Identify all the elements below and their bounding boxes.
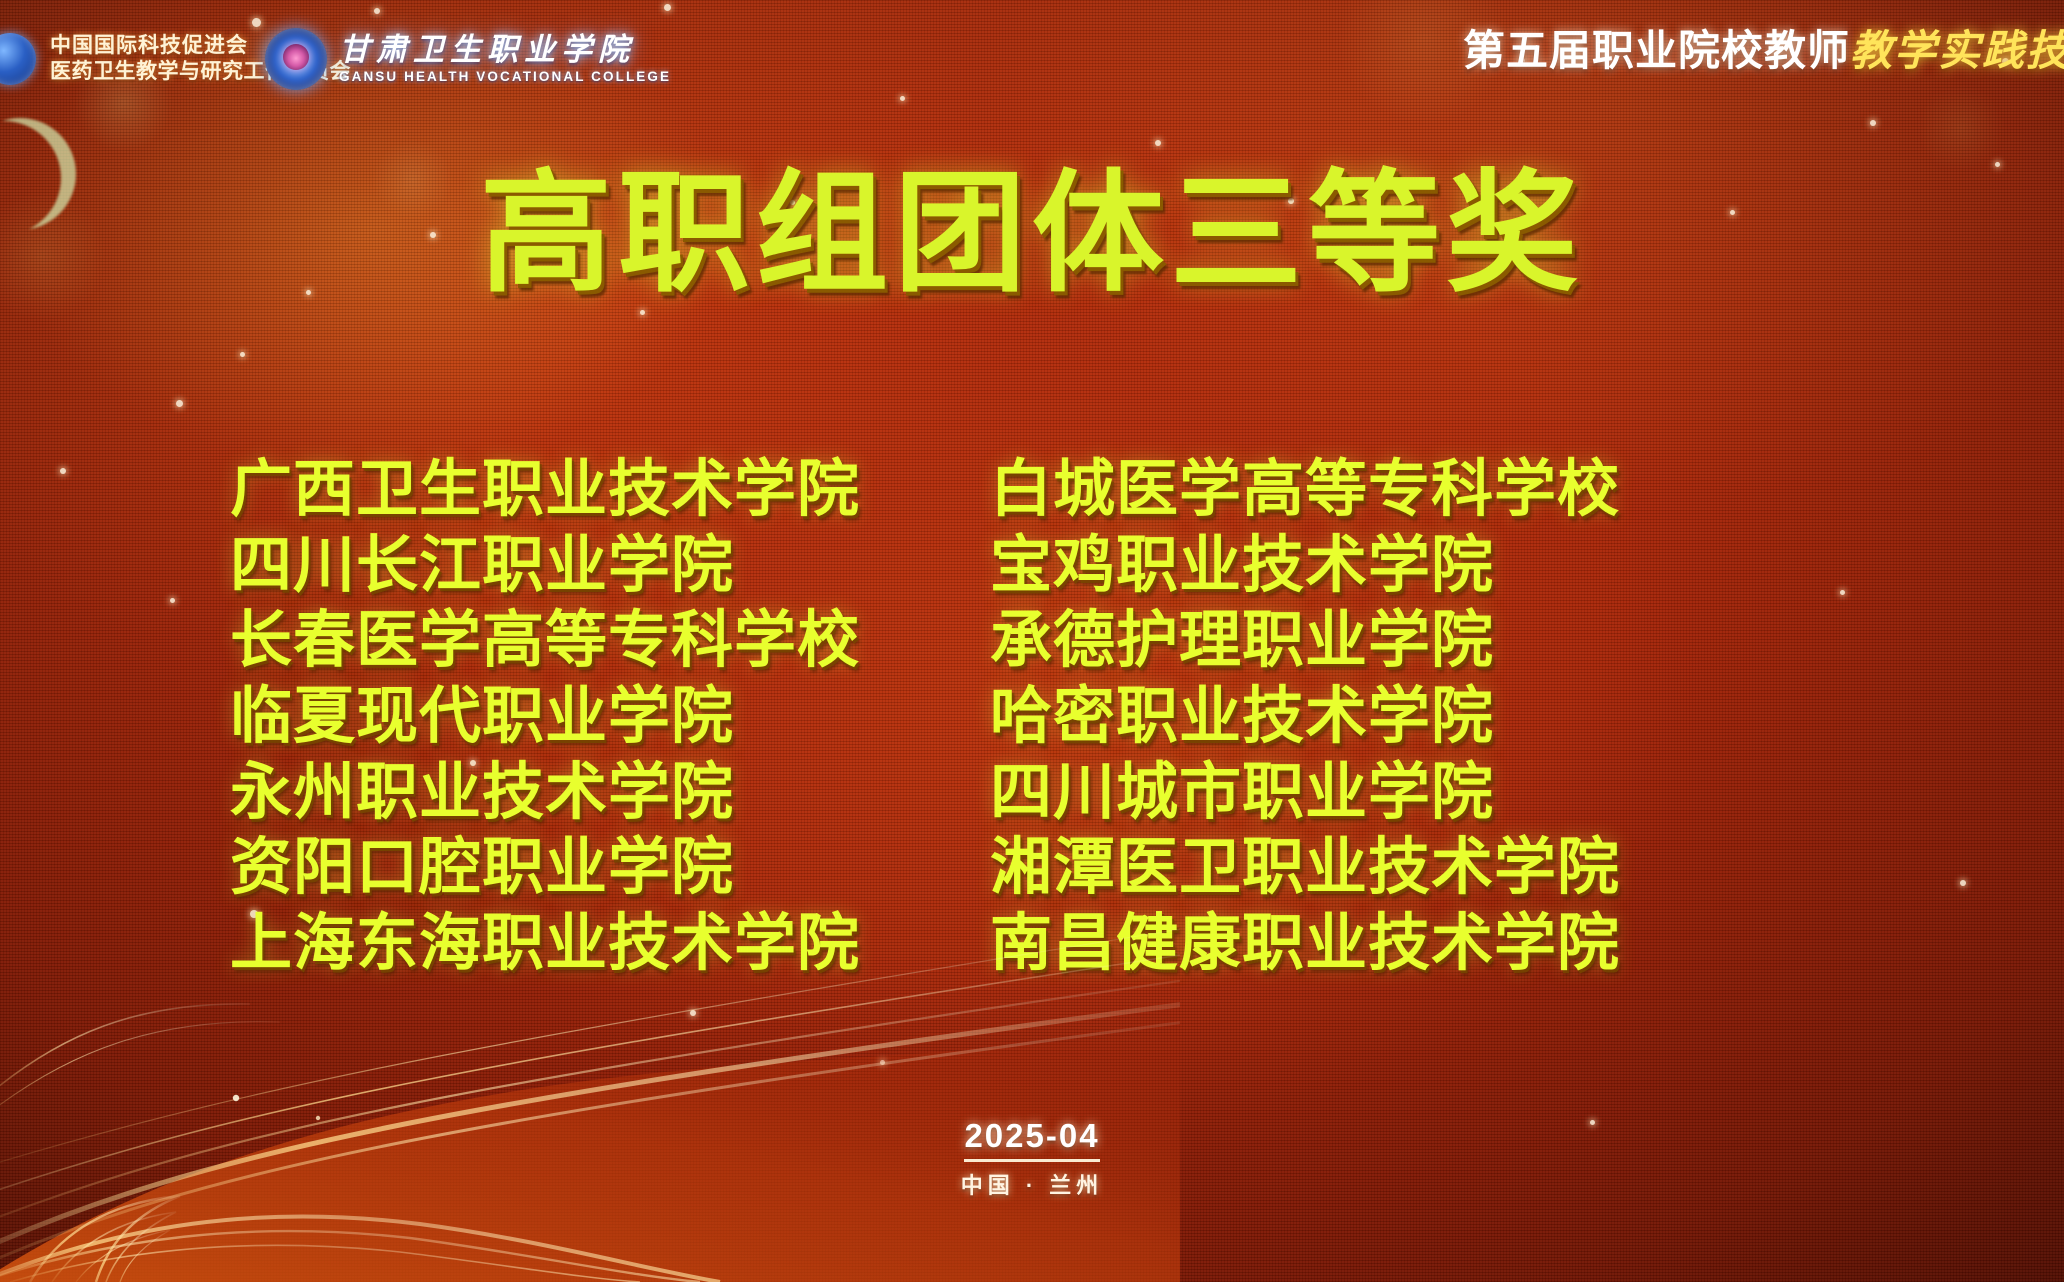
event-place: 中国 · 兰州 [0,1168,2064,1200]
college-name-group: 甘肃卫生职业学院 GANSU HEALTH VOCATIONAL COLLEGE [339,34,671,85]
award-title: 高职组团体三等奖 [0,168,2064,300]
winners-left-column: 广西卫生职业技术学院 四川长江职业学院 长春医学高等专科学校 临夏现代职业学院 … [230,452,970,981]
college-block: 甘肃卫生职业学院 GANSU HEALTH VOCATIONAL COLLEGE [265,28,671,90]
winner-item: 四川长江职业学院 [230,528,970,604]
winner-item: 南昌健康职业技术学院 [990,906,1850,982]
winner-item: 永州职业技术学院 [230,755,970,831]
winner-item: 广西卫生职业技术学院 [230,452,970,528]
college-logo-icon [265,28,327,90]
winner-item: 湘潭医卫职业技术学院 [990,830,1850,906]
event-title: 第五届职业院校教师教学实践技 [1463,30,2064,72]
slide-footer: 2025-04 中国 · 兰州 [0,1117,2064,1200]
slide-header: 中国国际科技促进会 医药卫生教学与研究工作委员会 甘肃卫生职业学院 GANSU … [0,0,2064,110]
winner-item: 哈密职业技术学院 [990,679,1850,755]
college-name-cn: 甘肃卫生职业学院 [339,34,671,67]
winner-item: 四川城市职业学院 [990,755,1850,831]
winners-right-column: 白城医学高等专科学校 宝鸡职业技术学院 承德护理职业学院 哈密职业技术学院 四川… [990,452,1850,981]
winner-item: 宝鸡职业技术学院 [990,528,1850,604]
college-name-en: GANSU HEALTH VOCATIONAL COLLEGE [339,69,671,84]
winner-item: 白城医学高等专科学校 [990,452,1850,528]
winner-item: 临夏现代职业学院 [230,679,970,755]
event-date: 2025-04 [964,1117,1099,1162]
event-title-main: 第五届职业院校教师 [1463,27,1850,74]
winners-list: 广西卫生职业技术学院 四川长江职业学院 长春医学高等专科学校 临夏现代职业学院 … [0,452,2064,981]
winner-item: 上海东海职业技术学院 [230,906,970,982]
association-emblem-icon [0,33,36,85]
winner-item: 长春医学高等专科学校 [230,603,970,679]
winner-item: 承德护理职业学院 [990,603,1850,679]
event-title-accent: 教学实践技 [1850,27,2064,74]
winner-item: 资阳口腔职业学院 [230,830,970,906]
award-slide: 中国国际科技促进会 医药卫生教学与研究工作委员会 甘肃卫生职业学院 GANSU … [0,0,2064,1282]
